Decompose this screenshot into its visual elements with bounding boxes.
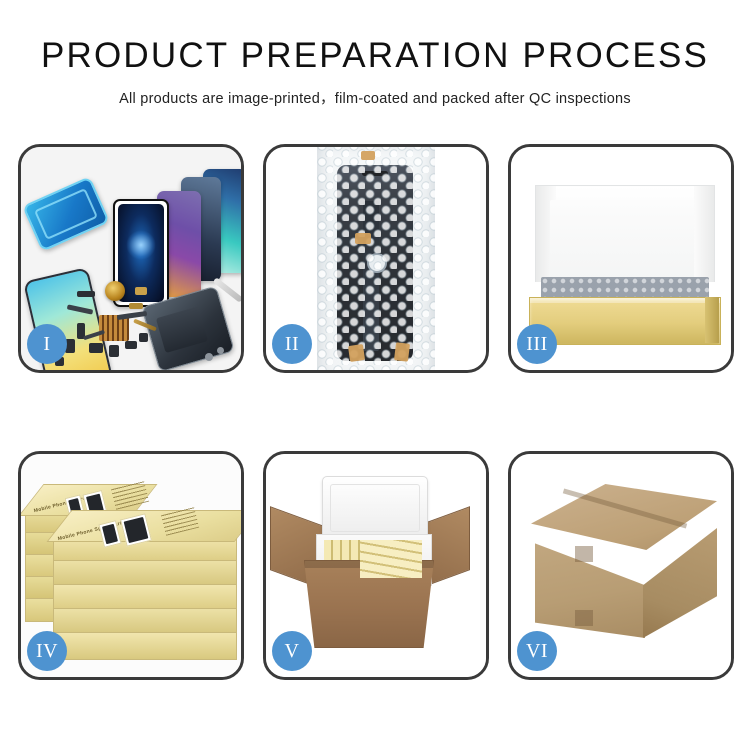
- stack-box-fr-2: [53, 560, 237, 586]
- bubble-texture: [317, 147, 435, 370]
- step-badge-6: VI: [517, 631, 557, 671]
- page-subtitle: All products are image-printed，film-coat…: [0, 87, 750, 108]
- step-numeral-4: IV: [36, 641, 58, 661]
- carton-tab-lower: [575, 610, 593, 626]
- step-panel-4: Mobile Phone Spare Parts Mobile Phone Sp…: [18, 451, 244, 680]
- step-panel-3: III: [508, 144, 734, 373]
- carton-tab-upper: [575, 546, 593, 562]
- step-numeral-6: VI: [526, 641, 548, 661]
- step-panel-2: II: [263, 144, 489, 373]
- carton-top-face: [531, 484, 717, 550]
- process-step-grid: I II: [18, 144, 734, 680]
- step-badge-2: II: [272, 324, 312, 364]
- step-panel-6: VI: [508, 451, 734, 680]
- header: PRODUCT PREPARATION PROCESS All products…: [0, 0, 750, 108]
- step-badge-3: III: [517, 324, 557, 364]
- step-badge-1: I: [27, 324, 67, 364]
- styrofoam-lid: [322, 476, 428, 540]
- step-numeral-3: III: [526, 334, 547, 354]
- product-preparation-process-infographic: PRODUCT PREPARATION PROCESS All products…: [0, 0, 750, 750]
- yellow-box-tray-edge: [705, 297, 719, 343]
- stack-box-fr-4: [53, 608, 237, 634]
- tape-piece-3: [348, 344, 365, 362]
- box-lid-open: [535, 185, 715, 282]
- bubble-bag: [317, 147, 435, 370]
- step-badge-5: V: [272, 631, 312, 671]
- stack-box-fr-5: [53, 632, 237, 660]
- stack-box-fr-3: [53, 584, 237, 610]
- tape-piece-4: [394, 342, 410, 362]
- step-numeral-5: V: [285, 641, 300, 661]
- foam-sheet: [550, 200, 712, 280]
- step-badge-4: IV: [27, 631, 67, 671]
- sealed-carton: [531, 484, 717, 640]
- yellow-box-tray: [529, 297, 721, 345]
- step-panel-1: I: [18, 144, 244, 373]
- step-numeral-1: I: [43, 334, 50, 354]
- step-numeral-2: II: [285, 334, 299, 354]
- page-title: PRODUCT PREPARATION PROCESS: [0, 38, 750, 75]
- step-panel-5: V: [263, 451, 489, 680]
- tape-piece-1: [361, 151, 375, 160]
- tape-piece-2: [355, 233, 371, 244]
- open-box: [529, 185, 719, 335]
